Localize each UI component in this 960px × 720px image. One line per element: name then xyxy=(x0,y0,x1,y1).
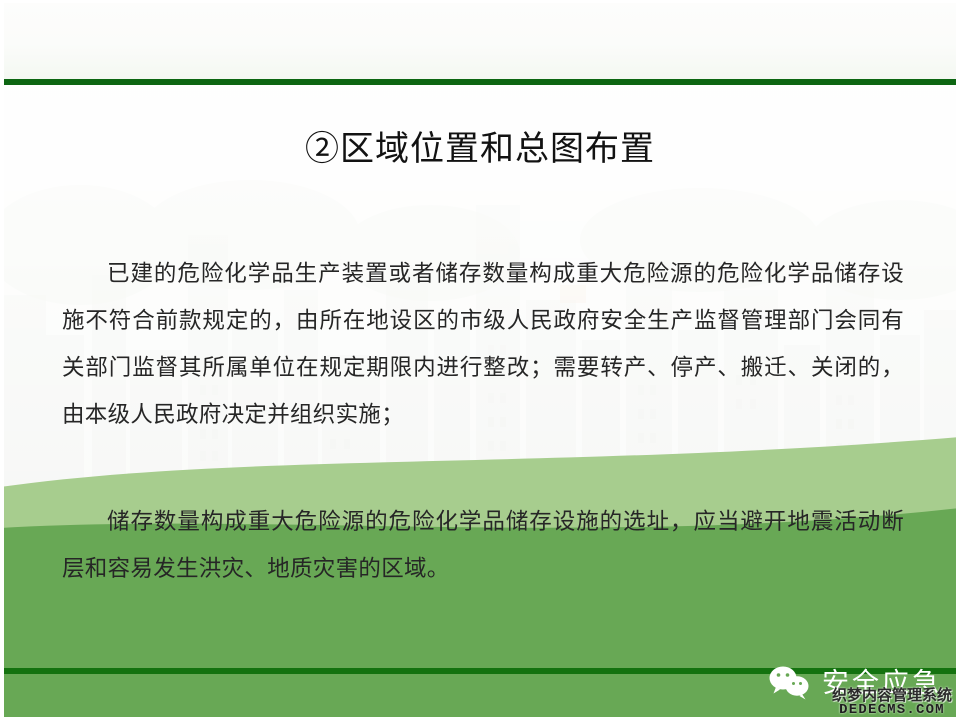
paragraph-2: 储存数量构成重大危险源的危险化学品储存设施的选址，应当避开地震活动断层和容易发生… xyxy=(62,498,904,592)
page-title: ②区域位置和总图布置 xyxy=(0,128,960,172)
wechat-account-name: 安全应急 xyxy=(822,668,942,698)
header-divider-rule xyxy=(0,79,960,85)
body-content: 已建的危险化学品生产装置或者储存数量构成重大危险源的危险化学品储存设施不符合前款… xyxy=(62,250,904,592)
slide-canvas: ②区域位置和总图布置 已建的危险化学品生产装置或者储存数量构成重大危险源的危险化… xyxy=(0,0,960,720)
wechat-icon xyxy=(768,664,812,702)
wechat-account-lockup: 安全应急 xyxy=(768,664,942,702)
header-band xyxy=(0,0,960,79)
paragraph-1: 已建的危险化学品生产装置或者储存数量构成重大危险源的危险化学品储存设施不符合前款… xyxy=(62,250,904,438)
